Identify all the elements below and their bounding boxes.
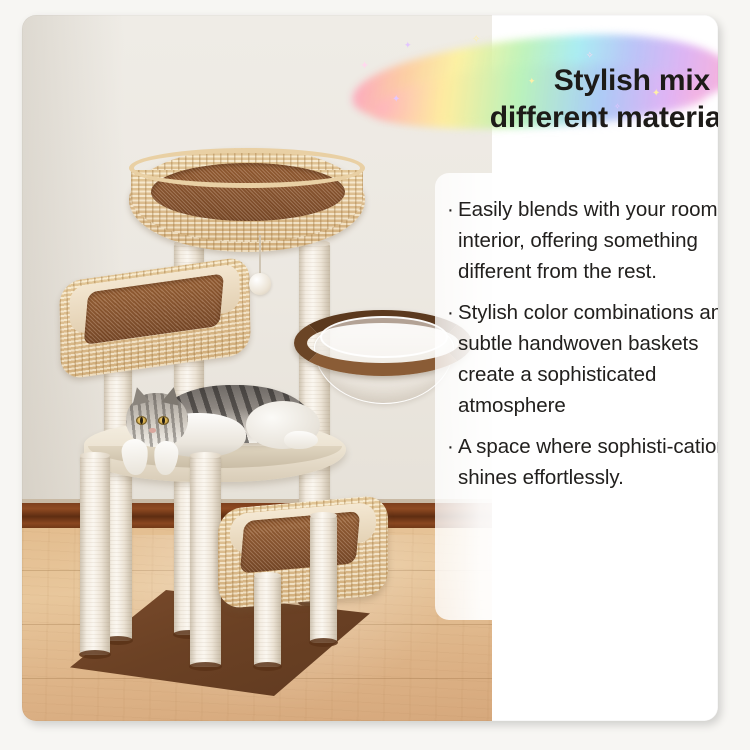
cat-front-paw-right bbox=[153, 440, 179, 476]
feature-bullet: ·A space where sophisti-cation shines ef… bbox=[447, 432, 718, 494]
screenshot-root: ✦✦✧✦✦✧✦✦✧ Stylish mix of different mater… bbox=[0, 0, 750, 750]
bullet-text: Easily blends with your room's interior,… bbox=[458, 198, 718, 283]
top-rattan-basket-platform bbox=[129, 148, 365, 252]
cat-nose bbox=[149, 428, 156, 433]
cat-ear-right bbox=[161, 385, 182, 405]
bullet-marker: · bbox=[447, 298, 454, 329]
sisal-post-bottom-right bbox=[310, 515, 337, 643]
sisal-post-front-center bbox=[190, 455, 221, 667]
sparkle-icon: ✦ bbox=[404, 41, 412, 50]
sisal-post-front-left bbox=[80, 455, 110, 655]
pom-pom-string bbox=[259, 235, 261, 277]
bottom-basket-woven-mat bbox=[240, 511, 361, 574]
page-title: Stylish mix of different materials bbox=[374, 63, 718, 136]
sisal-post-bottom-front bbox=[254, 575, 281, 667]
tabby-cat bbox=[114, 383, 332, 475]
headline-line-2: different materials bbox=[374, 100, 718, 137]
feature-bullet-list: ·Easily blends with your room's interior… bbox=[447, 195, 718, 505]
cat-hind-paw bbox=[284, 431, 318, 449]
bullet-marker: · bbox=[447, 195, 454, 226]
cat-front-paw-left bbox=[121, 438, 149, 476]
bullet-text: Stylish color combinations and subtle ha… bbox=[458, 301, 718, 416]
sparkle-icon: ✦ bbox=[360, 61, 369, 72]
headline-line-1: Stylish mix of bbox=[554, 64, 718, 97]
bowl-rim-highlight bbox=[320, 316, 448, 358]
pom-pom-toy-icon bbox=[249, 273, 271, 295]
bullet-text: A space where sophisti-cation shines eff… bbox=[458, 435, 718, 489]
feature-bullet: ·Easily blends with your room's interior… bbox=[447, 195, 718, 287]
feature-bullet: ·Stylish color combinations and subtle h… bbox=[447, 298, 718, 421]
bullet-marker: · bbox=[447, 432, 454, 463]
sparkle-icon: ✧ bbox=[586, 51, 594, 60]
sparkle-icon: ✧ bbox=[472, 35, 480, 45]
bottom-rattan-basket-platform bbox=[218, 495, 388, 610]
product-feature-card: ✦✦✧✦✦✧✦✦✧ Stylish mix of different mater… bbox=[22, 15, 718, 721]
